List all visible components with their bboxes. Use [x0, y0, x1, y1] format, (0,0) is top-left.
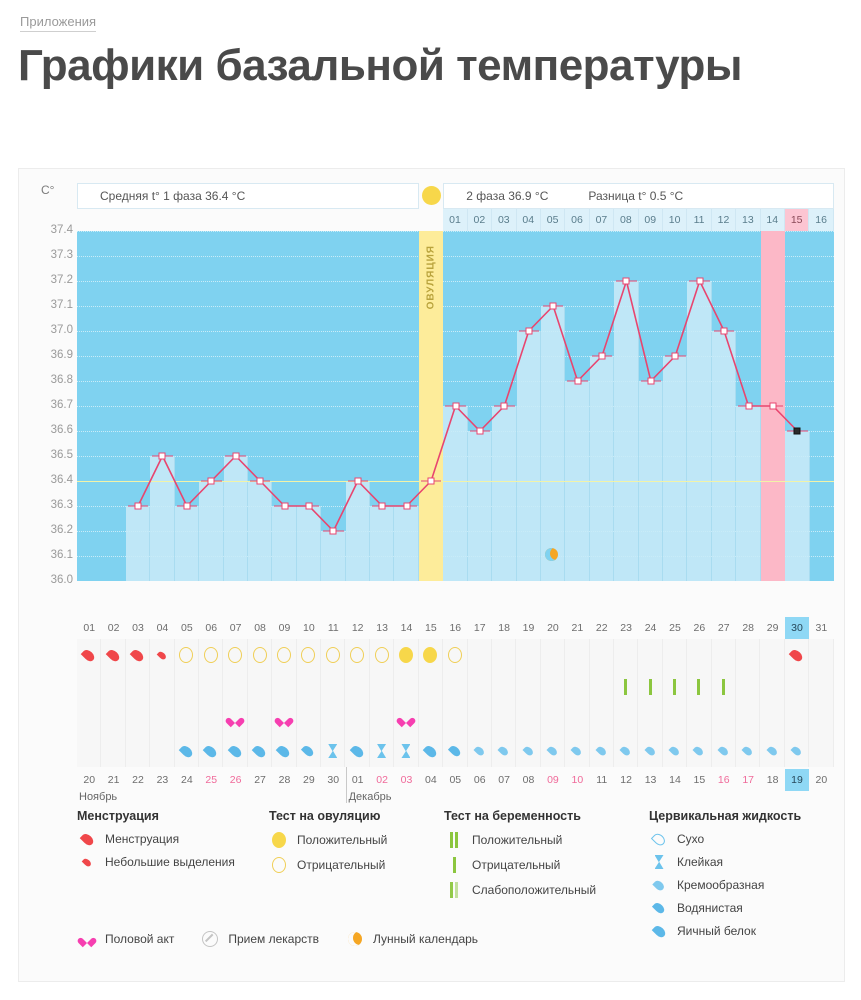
cycle-day-cell[interactable]: 11	[321, 617, 345, 639]
phase2-day-cell[interactable]: 14	[761, 209, 785, 231]
cycle-day-cell[interactable]: 18	[492, 617, 516, 639]
day-cell[interactable]	[199, 671, 223, 703]
pregnancy-test-row[interactable]	[77, 671, 834, 703]
day-cell[interactable]	[565, 735, 589, 767]
temperature-point[interactable]	[354, 478, 361, 485]
day-cell[interactable]	[614, 703, 638, 735]
calendar-date-cell[interactable]: 20	[77, 769, 101, 791]
cycle-day-cell[interactable]: 12	[345, 617, 369, 639]
legend-label: Отрицательный	[297, 858, 385, 872]
day-cell[interactable]	[297, 671, 321, 703]
day-cell[interactable]	[394, 671, 418, 703]
day-cell[interactable]	[809, 639, 833, 671]
day-cell[interactable]	[785, 671, 809, 703]
cycle-day-cell[interactable]: 21	[565, 617, 589, 639]
day-cell[interactable]	[297, 703, 321, 735]
hollow-circle-icon	[326, 647, 340, 663]
day-cell[interactable]	[223, 671, 247, 703]
page-title: Графики базальной температуры	[18, 41, 861, 91]
day-cell[interactable]	[321, 735, 345, 767]
hollow-circle-icon	[301, 647, 315, 663]
day-cell[interactable]	[516, 735, 540, 767]
calendar-date-cell[interactable]: 30	[321, 769, 345, 791]
day-cell[interactable]	[614, 671, 638, 703]
chart-card: C° 37.437.337.237.137.036.936.836.736.63…	[18, 168, 845, 982]
day-cell[interactable]	[443, 703, 467, 735]
day-cell[interactable]	[370, 639, 394, 671]
intercourse-row[interactable]	[77, 703, 834, 735]
temperature-point[interactable]	[379, 503, 386, 510]
y-axis-unit: C°	[41, 183, 54, 197]
calendar-date-cell[interactable]: 06	[468, 769, 492, 791]
day-cell[interactable]	[785, 703, 809, 735]
temperature-point[interactable]	[721, 328, 728, 335]
calendar-date-cell[interactable]: 20	[809, 769, 833, 791]
day-cell[interactable]	[77, 735, 101, 767]
legend-label: Лунный календарь	[373, 932, 478, 946]
creamy-drop-icon	[790, 745, 802, 757]
day-cell[interactable]	[516, 703, 540, 735]
day-cell[interactable]	[77, 703, 101, 735]
day-cell[interactable]	[126, 671, 150, 703]
cycle-day-cell[interactable]: 26	[687, 617, 711, 639]
day-cell[interactable]	[175, 671, 199, 703]
cycle-day-cell[interactable]: 27	[712, 617, 736, 639]
phase2-summary: 2 фаза 36.9 °C Разница t° 0.5 °C	[443, 183, 834, 209]
pill-icon	[200, 931, 220, 947]
hollow-circle-icon	[375, 647, 389, 663]
cycle-day-cell[interactable]: 04	[150, 617, 174, 639]
day-cell[interactable]	[126, 735, 150, 767]
day-cell[interactable]	[150, 671, 174, 703]
legend-item: Положительный	[269, 832, 387, 848]
day-cell[interactable]	[419, 671, 443, 703]
calendar-date-cell[interactable]: 19	[785, 769, 809, 791]
temperature-point[interactable]	[257, 478, 264, 485]
cycle-day-cell[interactable]: 29	[760, 617, 784, 639]
day-cell[interactable]	[712, 735, 736, 767]
legend-label: Кремообразная	[677, 878, 764, 892]
hollow-circle-icon	[350, 647, 364, 663]
day-cell[interactable]	[272, 735, 296, 767]
cycle-day-cell[interactable]: 02	[101, 617, 125, 639]
day-cell[interactable]	[370, 671, 394, 703]
temperature-point[interactable]	[135, 503, 142, 510]
day-cell[interactable]	[101, 639, 125, 671]
bottom-legend: Половой акт Прием лекарств Лунный календ…	[19, 931, 844, 947]
temperature-graph[interactable]: ОВУЛЯЦИЯ	[77, 231, 834, 581]
day-cell[interactable]	[712, 639, 736, 671]
calendar-date-cell[interactable]: 26	[223, 769, 247, 791]
cycle-day-cell[interactable]: 08	[248, 617, 272, 639]
day-cell[interactable]	[663, 671, 687, 703]
day-cell[interactable]	[101, 671, 125, 703]
creamy-drop-icon	[766, 745, 778, 757]
temperature-point[interactable]	[183, 503, 190, 510]
calendar-date-cell[interactable]: 14	[663, 769, 687, 791]
temperature-point[interactable]	[574, 378, 581, 385]
calendar-date-cell[interactable]: 12	[614, 769, 638, 791]
temperature-point[interactable]	[696, 278, 703, 285]
legend-label: Клейкая	[677, 855, 723, 869]
calendar-date-cell[interactable]: 28	[272, 769, 296, 791]
temperature-point[interactable]	[672, 353, 679, 360]
phase2-day-cell[interactable]: 08	[614, 209, 638, 231]
day-cell[interactable]	[223, 639, 247, 671]
day-cell[interactable]	[638, 671, 662, 703]
hollow-circle-icon	[253, 647, 267, 663]
legend-column-ovulation-test: Тест на овуляцию Положительный Отрицател…	[269, 809, 387, 882]
heart-icon	[77, 934, 97, 945]
day-cell[interactable]	[77, 639, 101, 671]
day-cell[interactable]	[492, 703, 516, 735]
temperature-point[interactable]	[403, 503, 410, 510]
breadcrumb[interactable]: Приложения	[0, 0, 861, 29]
blood-drop-icon	[77, 833, 97, 846]
hourglass-icon	[328, 744, 337, 758]
calendar-date-cell[interactable]: 07	[492, 769, 516, 791]
day-cell[interactable]	[809, 703, 833, 735]
day-cell[interactable]	[565, 703, 589, 735]
watery-drop-icon	[649, 902, 669, 914]
cycle-day-cell[interactable]: 01	[77, 617, 101, 639]
day-cell[interactable]	[590, 639, 614, 671]
day-cell[interactable]	[541, 703, 565, 735]
temperature-point[interactable]	[550, 303, 557, 310]
cycle-day-cell[interactable]: 28	[736, 617, 760, 639]
cycle-day-cell[interactable]: 06	[199, 617, 223, 639]
y-axis: C° 37.437.337.237.137.036.936.836.736.63…	[29, 183, 79, 603]
day-cell[interactable]	[638, 735, 662, 767]
temperature-point[interactable]	[330, 528, 337, 535]
day-cell[interactable]	[248, 735, 272, 767]
day-cell[interactable]	[712, 671, 736, 703]
month-divider	[346, 767, 347, 803]
legend-item: Отрицательный	[444, 857, 596, 873]
day-cell[interactable]	[126, 639, 150, 671]
cycle-day-cell[interactable]: 31	[809, 617, 833, 639]
cycle-day-cell[interactable]: 24	[638, 617, 662, 639]
temperature-point[interactable]	[769, 403, 776, 410]
day-cell[interactable]	[565, 671, 589, 703]
day-cell[interactable]	[590, 703, 614, 735]
temperature-point-predicted[interactable]	[794, 428, 801, 435]
y-axis-tick: 36.8	[29, 374, 73, 386]
day-cell[interactable]	[760, 671, 784, 703]
cycle-day-cell[interactable]: 17	[468, 617, 492, 639]
temperature-point[interactable]	[428, 478, 435, 485]
day-cell[interactable]	[394, 703, 418, 735]
temperature-point[interactable]	[623, 278, 630, 285]
day-cell[interactable]	[687, 703, 711, 735]
day-cell[interactable]	[345, 735, 369, 767]
temperature-point[interactable]	[305, 503, 312, 510]
cervical-fluid-row[interactable]	[77, 735, 834, 767]
day-cell[interactable]	[663, 735, 687, 767]
day-cell[interactable]	[175, 735, 199, 767]
phase2-day-cell[interactable]: 06	[565, 209, 589, 231]
day-cell[interactable]	[590, 671, 614, 703]
day-cell[interactable]	[443, 671, 467, 703]
calendar-date-cell[interactable]: 04	[419, 769, 443, 791]
temperature-point[interactable]	[281, 503, 288, 510]
calendar-date-cell[interactable]: 27	[248, 769, 272, 791]
day-cell[interactable]	[809, 735, 833, 767]
day-cell[interactable]	[663, 703, 687, 735]
phase2-day-cell[interactable]: 04	[517, 209, 541, 231]
day-cell[interactable]	[736, 639, 760, 671]
hourglass-icon	[377, 744, 386, 758]
day-cell[interactable]	[492, 735, 516, 767]
y-axis-tick: 37.3	[29, 249, 73, 261]
day-cell[interactable]	[321, 639, 345, 671]
day-cell[interactable]	[297, 639, 321, 671]
phase2-day-cell[interactable]: 10	[663, 209, 687, 231]
cycle-day-cell[interactable]: 10	[297, 617, 321, 639]
temperature-point[interactable]	[599, 353, 606, 360]
y-axis-tick: 36.9	[29, 349, 73, 361]
hollow-circle-icon	[204, 647, 218, 663]
day-cell[interactable]	[248, 639, 272, 671]
day-cell[interactable]	[468, 671, 492, 703]
day-cell[interactable]	[516, 671, 540, 703]
calendar-date-cell[interactable]: 05	[443, 769, 467, 791]
month-label-1: Ноябрь	[79, 791, 117, 803]
phase2-day-cell[interactable]: 16	[809, 209, 833, 231]
day-cell[interactable]	[468, 639, 492, 671]
day-cell[interactable]	[541, 639, 565, 671]
hollow-drop-icon	[649, 833, 669, 846]
legend-label: Слабоположительный	[472, 883, 596, 897]
day-cell[interactable]	[321, 703, 345, 735]
day-cell[interactable]	[590, 735, 614, 767]
temperature-point[interactable]	[232, 453, 239, 460]
day-cell[interactable]	[419, 735, 443, 767]
temperature-point[interactable]	[501, 403, 508, 410]
calendar-date-cell[interactable]: 03	[394, 769, 418, 791]
day-cell[interactable]	[687, 639, 711, 671]
cycle-day-cell[interactable]: 23	[614, 617, 638, 639]
day-cell[interactable]	[248, 703, 272, 735]
filled-circle-icon	[399, 647, 413, 663]
cycle-day-cell[interactable]: 09	[272, 617, 296, 639]
phase2-day-cell[interactable]: 02	[468, 209, 492, 231]
phase2-day-cell[interactable]: 03	[492, 209, 516, 231]
cycle-day-cell[interactable]: 05	[175, 617, 199, 639]
moon-icon	[345, 932, 365, 946]
day-cell[interactable]	[370, 735, 394, 767]
day-cell[interactable]	[516, 639, 540, 671]
calendar-date-cell[interactable]: 18	[760, 769, 784, 791]
day-cell[interactable]	[614, 639, 638, 671]
day-cell[interactable]	[199, 703, 223, 735]
day-cell[interactable]	[687, 735, 711, 767]
day-cell[interactable]	[468, 703, 492, 735]
menstruation-row[interactable]	[77, 639, 834, 671]
calendar-date-cell[interactable]: 10	[565, 769, 589, 791]
cycle-day-cell[interactable]: 13	[370, 617, 394, 639]
day-cell[interactable]	[614, 735, 638, 767]
cycle-day-cell[interactable]: 20	[541, 617, 565, 639]
phase2-day-numbers: 01020304050607080910111213141516	[443, 209, 834, 231]
cycle-day-axis: 0102030405060708091011121314151617181920…	[77, 617, 834, 639]
phase-diff-label: Разница t° 0.5 °C	[548, 189, 683, 203]
day-cell[interactable]	[77, 671, 101, 703]
day-cell[interactable]	[394, 735, 418, 767]
day-cell[interactable]	[150, 735, 174, 767]
hollow-circle-icon	[228, 647, 242, 663]
day-cell[interactable]	[492, 671, 516, 703]
day-cell[interactable]	[272, 639, 296, 671]
day-cell[interactable]	[248, 671, 272, 703]
moon-icon[interactable]	[545, 548, 561, 564]
legend-label: Положительный	[472, 833, 562, 847]
y-axis-tick: 37.2	[29, 274, 73, 286]
cycle-day-cell[interactable]: 03	[126, 617, 150, 639]
day-cell[interactable]	[736, 671, 760, 703]
day-cell[interactable]	[638, 703, 662, 735]
y-axis-tick: 36.2	[29, 524, 73, 536]
day-cell[interactable]	[638, 639, 662, 671]
day-cell[interactable]	[443, 735, 467, 767]
temperature-point[interactable]	[647, 378, 654, 385]
day-cell[interactable]	[809, 671, 833, 703]
day-cell[interactable]	[565, 639, 589, 671]
cycle-day-cell[interactable]: 14	[394, 617, 418, 639]
calendar-date-cell[interactable]: 11	[590, 769, 614, 791]
day-cell[interactable]	[736, 735, 760, 767]
phase2-day-cell[interactable]: 12	[712, 209, 736, 231]
calendar-date-cell[interactable]: 16	[712, 769, 736, 791]
day-cell[interactable]	[419, 639, 443, 671]
temperature-point[interactable]	[476, 428, 483, 435]
day-cell[interactable]	[541, 671, 565, 703]
heart-icon	[229, 714, 241, 725]
day-cell[interactable]	[199, 639, 223, 671]
day-cell[interactable]	[370, 703, 394, 735]
legend-item-medication: Прием лекарств	[200, 931, 319, 947]
day-cell[interactable]	[223, 703, 247, 735]
day-cell[interactable]	[663, 639, 687, 671]
temperature-point[interactable]	[745, 403, 752, 410]
cycle-day-cell[interactable]: 16	[443, 617, 467, 639]
calendar-date-cell[interactable]: 25	[199, 769, 223, 791]
calendar-date-cell[interactable]: 13	[638, 769, 662, 791]
legend-item: Водянистая	[649, 901, 801, 915]
y-axis-tick: 36.5	[29, 449, 73, 461]
day-cell[interactable]	[443, 639, 467, 671]
day-cell[interactable]	[321, 671, 345, 703]
day-cell[interactable]	[223, 735, 247, 767]
day-cell[interactable]	[101, 703, 125, 735]
day-cell[interactable]	[175, 639, 199, 671]
day-cell[interactable]	[126, 703, 150, 735]
temperature-point[interactable]	[525, 328, 532, 335]
legend-item-moon: Лунный календарь	[345, 932, 478, 946]
day-cell[interactable]	[345, 639, 369, 671]
phase2-day-cell[interactable]: 07	[590, 209, 614, 231]
legend-label: Небольшие выделения	[105, 855, 235, 869]
cycle-day-cell[interactable]: 25	[663, 617, 687, 639]
temperature-point[interactable]	[208, 478, 215, 485]
phase2-day-cell[interactable]: 11	[687, 209, 711, 231]
calendar-date-cell[interactable]: 17	[736, 769, 760, 791]
day-cell[interactable]	[419, 703, 443, 735]
calendar-date-cell[interactable]: 02	[370, 769, 394, 791]
day-cell[interactable]	[345, 703, 369, 735]
day-cell[interactable]	[272, 671, 296, 703]
legend-title: Тест на овуляцию	[269, 809, 387, 823]
cycle-day-cell[interactable]: 15	[419, 617, 443, 639]
day-cell[interactable]	[785, 735, 809, 767]
cycle-day-cell[interactable]: 19	[516, 617, 540, 639]
calendar-date-cell[interactable]: 09	[541, 769, 565, 791]
day-cell[interactable]	[760, 735, 784, 767]
creamy-drop-icon	[595, 745, 607, 757]
phase2-day-cell[interactable]: 09	[639, 209, 663, 231]
day-cell[interactable]	[199, 735, 223, 767]
calendar-date-cell[interactable]: 22	[126, 769, 150, 791]
calendar-date-cell[interactable]: 29	[297, 769, 321, 791]
calendar-date-cell[interactable]: 24	[175, 769, 199, 791]
day-cell[interactable]	[760, 703, 784, 735]
cycle-day-cell[interactable]: 22	[590, 617, 614, 639]
calendar-date-cell[interactable]: 08	[516, 769, 540, 791]
legend-item: Отрицательный	[269, 857, 387, 873]
cycle-day-cell[interactable]: 07	[223, 617, 247, 639]
day-cell[interactable]	[345, 671, 369, 703]
y-axis-tick: 36.1	[29, 549, 73, 561]
hollow-circle-icon	[179, 647, 193, 663]
phase1-summary: Средняя t° 1 фаза 36.4 °C	[77, 183, 419, 209]
ovulation-dot-icon	[422, 186, 441, 205]
temperature-point[interactable]	[452, 403, 459, 410]
day-cell[interactable]	[760, 639, 784, 671]
day-cell[interactable]	[492, 639, 516, 671]
day-cell[interactable]	[468, 735, 492, 767]
day-cell[interactable]	[150, 639, 174, 671]
breadcrumb-link[interactable]: Приложения	[20, 14, 96, 32]
blood-drop-icon	[130, 647, 146, 663]
day-cell[interactable]	[272, 703, 296, 735]
day-cell[interactable]	[712, 703, 736, 735]
day-cell[interactable]	[394, 639, 418, 671]
calendar-date-cell[interactable]: 23	[150, 769, 174, 791]
phase2-day-cell[interactable]: 01	[443, 209, 467, 231]
day-cell[interactable]	[736, 703, 760, 735]
calendar-date-cell[interactable]: 15	[687, 769, 711, 791]
cycle-day-cell[interactable]: 30	[785, 617, 809, 639]
calendar-date-cell[interactable]: 01	[345, 769, 369, 791]
day-cell[interactable]	[687, 671, 711, 703]
day-cell[interactable]	[297, 735, 321, 767]
day-cell[interactable]	[175, 703, 199, 735]
phase2-day-cell[interactable]: 05	[541, 209, 565, 231]
day-cell[interactable]	[101, 735, 125, 767]
legend-title: Менструация	[77, 809, 235, 823]
day-cell[interactable]	[150, 703, 174, 735]
legend-label: Водянистая	[677, 901, 743, 915]
phase2-day-cell[interactable]: 15	[785, 209, 809, 231]
calendar-date-cell[interactable]: 21	[101, 769, 125, 791]
blood-drop-icon	[81, 647, 97, 663]
creamy-drop-icon	[717, 745, 729, 757]
phase2-day-cell[interactable]: 13	[736, 209, 760, 231]
one-bar-icon	[697, 679, 700, 695]
day-cell[interactable]	[541, 735, 565, 767]
temperature-point[interactable]	[159, 453, 166, 460]
day-cell[interactable]	[785, 639, 809, 671]
